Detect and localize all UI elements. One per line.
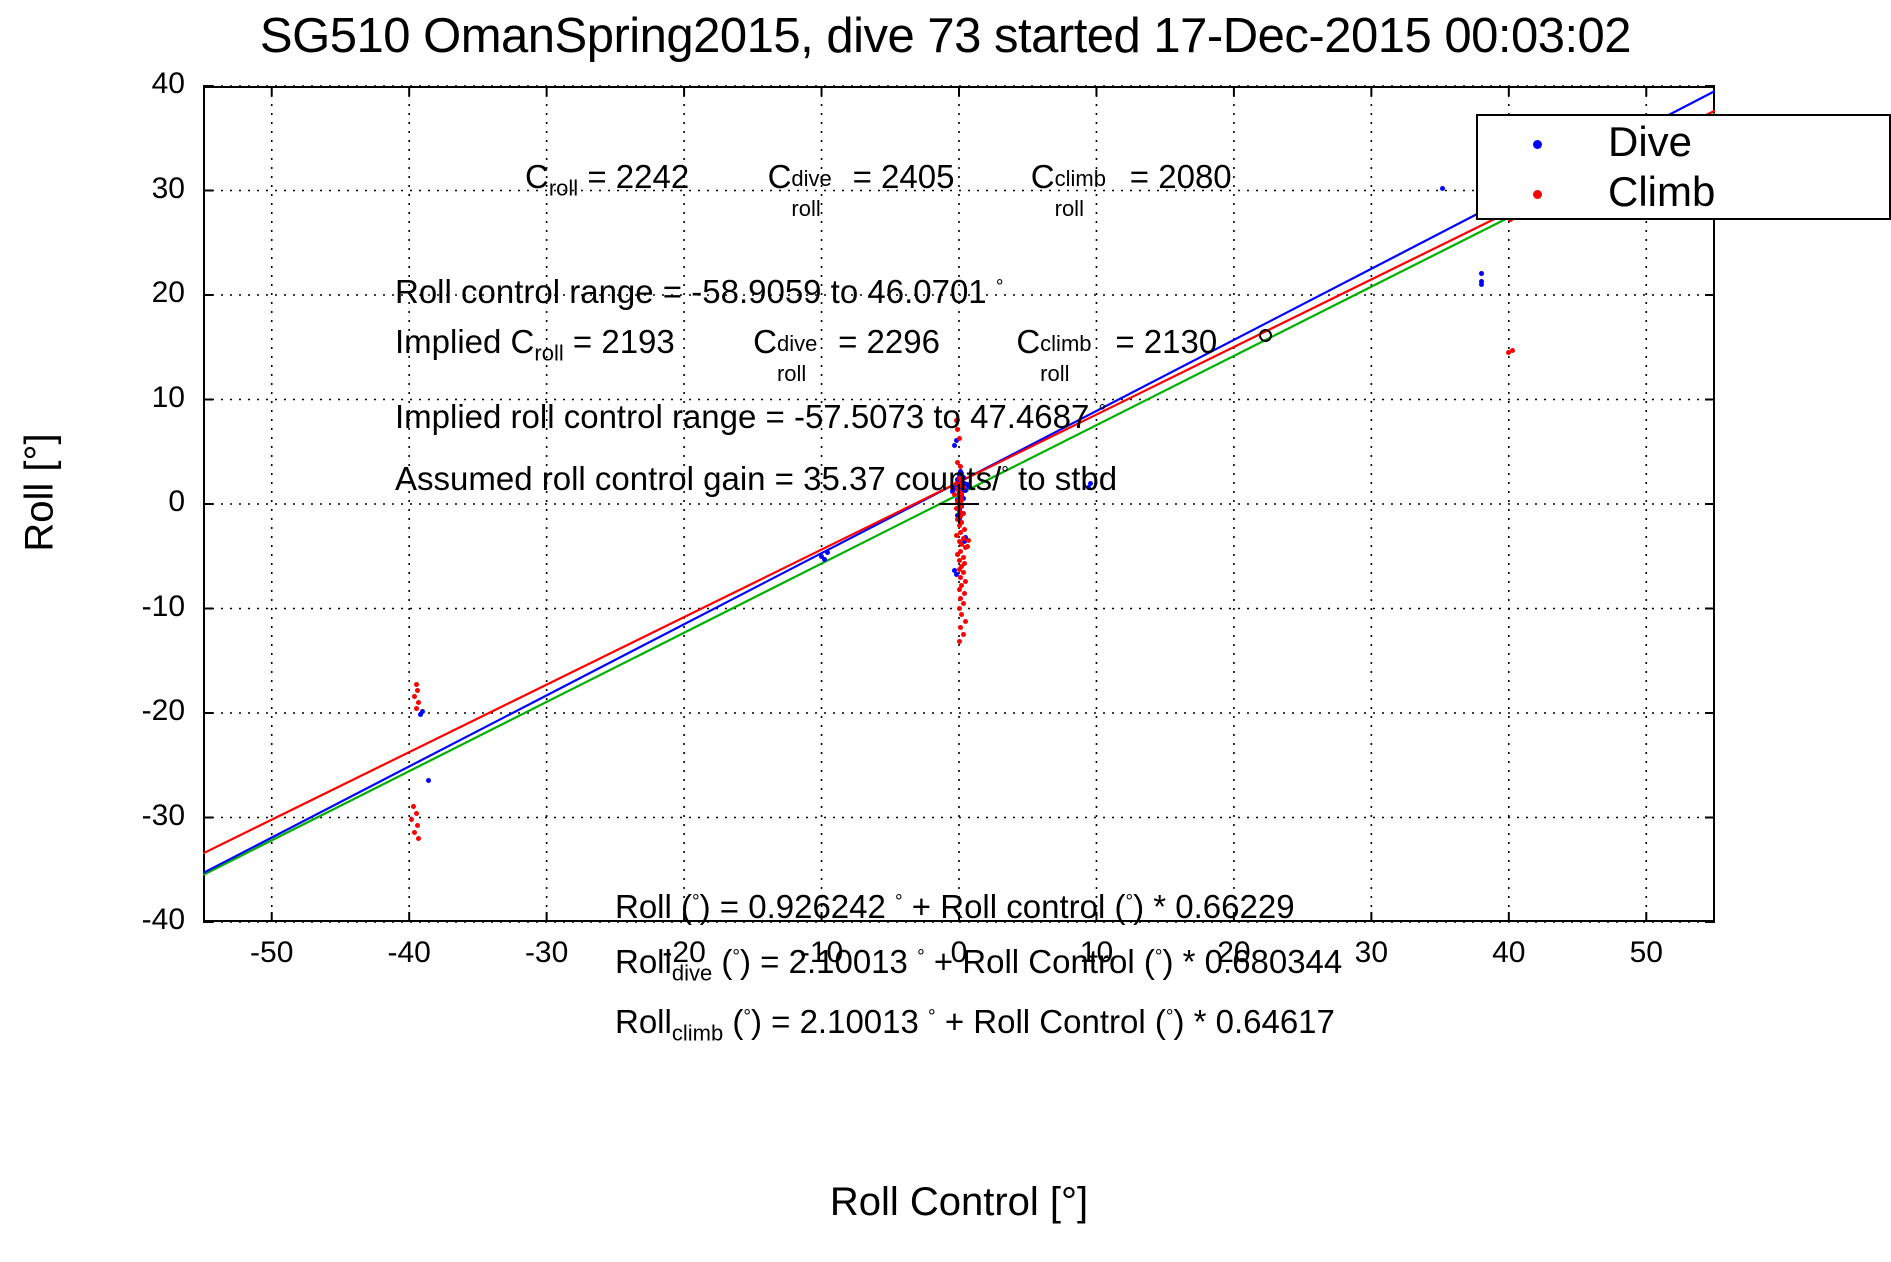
legend-item-climb[interactable]: Climb bbox=[1478, 168, 1889, 218]
implied-dive-value: = 2296 bbox=[829, 323, 940, 360]
eq-climb-p3: + Roll Control ( bbox=[936, 1003, 1166, 1040]
y-tick-label: -10 bbox=[73, 590, 185, 624]
implied-climb-subscript: roll bbox=[1040, 363, 1069, 385]
croll-climb-symbol: C bbox=[1031, 158, 1055, 195]
eq-dive-subscript: dive bbox=[672, 961, 712, 986]
data-point-climb bbox=[955, 552, 960, 557]
data-point-climb bbox=[957, 436, 962, 441]
eq-climb-p0: Roll bbox=[615, 1003, 672, 1040]
annotation-implied-range: Implied roll control range = -57.5073 to… bbox=[395, 400, 1106, 433]
legend-item-dive[interactable]: Dive bbox=[1478, 118, 1889, 168]
data-point-climb bbox=[957, 558, 962, 563]
eq-climb-p4: ) * 0.64617 bbox=[1173, 1003, 1334, 1040]
data-point-climb bbox=[958, 625, 963, 630]
y-axis-label: Roll [°] bbox=[18, 313, 63, 673]
data-point-dive bbox=[822, 557, 827, 562]
data-point-climb bbox=[957, 587, 962, 592]
legend-label-climb: Climb bbox=[1608, 168, 1715, 216]
data-point-climb bbox=[412, 694, 417, 699]
implied-climb-symbol: C bbox=[1016, 323, 1040, 360]
data-point-climb bbox=[958, 596, 963, 601]
x-tick-label: -50 bbox=[212, 936, 332, 970]
degree-symbol: ° bbox=[996, 277, 1004, 298]
y-tick-label: 30 bbox=[73, 172, 185, 206]
gain-text-post: to stbd bbox=[1009, 460, 1117, 497]
annotation-croll-line: Croll = 2242 Cdiveroll = 2405 Cclimbroll… bbox=[525, 160, 1232, 200]
dive-marker-icon bbox=[1533, 140, 1542, 149]
degree-symbol: ° bbox=[928, 1007, 936, 1028]
data-point-climb bbox=[954, 533, 959, 538]
y-tick-label: 20 bbox=[73, 276, 185, 310]
data-point-climb bbox=[414, 811, 419, 816]
data-point-climb bbox=[961, 632, 966, 637]
x-tick-label: 40 bbox=[1449, 936, 1569, 970]
croll-dive-symbol: C bbox=[768, 158, 792, 195]
annotation-equation-dive: Rolldive (°) = 2.10013 ° + Roll Control … bbox=[615, 945, 1342, 985]
y-tick-label: -30 bbox=[73, 799, 185, 833]
legend[interactable]: Dive Climb bbox=[1476, 114, 1891, 220]
data-point-climb bbox=[961, 601, 966, 606]
y-tick-label: -20 bbox=[73, 694, 185, 728]
croll-dive-value: = 2405 bbox=[843, 158, 954, 195]
data-point-dive bbox=[1479, 282, 1484, 287]
degree-symbol: ° bbox=[743, 1007, 751, 1028]
eq-dive-p0: Roll bbox=[615, 943, 672, 980]
page-title: SG510 OmanSpring2015, dive 73 started 17… bbox=[0, 8, 1891, 64]
x-tick-label: 50 bbox=[1586, 936, 1706, 970]
croll-subscript: roll bbox=[549, 176, 578, 201]
eq-dive-p2: ) = 2.10013 bbox=[740, 943, 917, 980]
data-point-climb bbox=[414, 682, 419, 687]
eq-dive-p4: ) * 0.680344 bbox=[1162, 943, 1342, 980]
implied-climb-value: = 2130 bbox=[1106, 323, 1217, 360]
x-axis-label: Roll Control [°] bbox=[203, 1180, 1715, 1225]
eq-all-p1: Roll ( bbox=[615, 888, 692, 925]
eq-climb-p1: ( bbox=[723, 1003, 743, 1040]
implied-range-text: Implied roll control range = -57.5073 to… bbox=[395, 398, 1099, 435]
data-point-climb bbox=[957, 606, 962, 611]
croll-dive-subscript: roll bbox=[791, 198, 820, 220]
degree-symbol: ° bbox=[895, 892, 903, 913]
x-tick-label: -40 bbox=[349, 936, 469, 970]
eq-all-p4: ) * 0.66229 bbox=[1133, 888, 1294, 925]
eq-dive-p3: + Roll Control ( bbox=[925, 943, 1155, 980]
implied-croll-value: = 2193 bbox=[564, 323, 675, 360]
data-point-climb bbox=[414, 706, 419, 711]
croll-climb-superscript: climb bbox=[1055, 168, 1106, 190]
croll-climb-subscript: roll bbox=[1055, 198, 1084, 220]
croll-climb-value: = 2080 bbox=[1121, 158, 1232, 195]
implied-dive-symbol: C bbox=[753, 323, 777, 360]
degree-symbol: ° bbox=[1001, 464, 1009, 485]
croll-symbol: C bbox=[525, 158, 549, 195]
data-point-dive bbox=[825, 550, 830, 555]
annotation-implied-croll-line: Implied Croll = 2193 Cdiveroll = 2296 Cc… bbox=[395, 325, 1217, 365]
croll-value: = 2242 bbox=[578, 158, 689, 195]
data-point-climb bbox=[412, 830, 417, 835]
y-tick-label: -40 bbox=[73, 903, 185, 937]
y-tick-label: 40 bbox=[73, 67, 185, 101]
x-tick-label: -30 bbox=[487, 936, 607, 970]
legend-label-dive: Dive bbox=[1608, 118, 1692, 166]
annotation-equation-climb: Rollclimb (°) = 2.10013 ° + Roll Control… bbox=[615, 1005, 1335, 1045]
degree-symbol: ° bbox=[1125, 892, 1133, 913]
eq-climb-p2: ) = 2.10013 bbox=[751, 1003, 928, 1040]
data-point-dive bbox=[1479, 271, 1484, 276]
climb-marker-icon bbox=[1533, 190, 1542, 199]
data-point-climb bbox=[411, 804, 416, 809]
annotation-roll-control-range: Roll control range = -58.9059 to 46.0701… bbox=[395, 275, 1003, 308]
eq-dive-p1: ( bbox=[712, 943, 732, 980]
eq-climb-subscript: climb bbox=[672, 1021, 723, 1046]
y-tick-label: 0 bbox=[73, 485, 185, 519]
data-point-climb bbox=[958, 575, 963, 580]
y-tick-label: 10 bbox=[73, 381, 185, 415]
implied-dive-superscript: dive bbox=[777, 333, 817, 355]
degree-symbol: ° bbox=[732, 947, 740, 968]
croll-dive-superscript: dive bbox=[791, 168, 831, 190]
degree-symbol: ° bbox=[1099, 402, 1107, 423]
eq-all-p3: + Roll control ( bbox=[903, 888, 1126, 925]
data-point-dive bbox=[418, 712, 423, 717]
implied-climb-superscript: climb bbox=[1040, 333, 1091, 355]
data-point-climb bbox=[415, 688, 420, 693]
eq-all-p2: ) = 0.926242 bbox=[700, 888, 895, 925]
degree-symbol: ° bbox=[917, 947, 925, 968]
data-point-climb bbox=[963, 619, 968, 624]
implied-croll-prefix: Implied C bbox=[395, 323, 534, 360]
annotation-equation-all: Roll (°) = 0.926242 ° + Roll control (°)… bbox=[615, 890, 1295, 923]
implied-croll-subscript: roll bbox=[534, 341, 563, 366]
roll-control-range-text: Roll control range = -58.9059 to 46.0701 bbox=[395, 273, 996, 310]
degree-symbol: ° bbox=[692, 892, 700, 913]
gain-text-pre: Assumed roll control gain = 35.37 counts… bbox=[395, 460, 1001, 497]
annotation-gain: Assumed roll control gain = 35.37 counts… bbox=[395, 462, 1117, 495]
figure-root: SG510 OmanSpring2015, dive 73 started 17… bbox=[0, 0, 1891, 1262]
implied-dive-subscript: roll bbox=[777, 363, 806, 385]
